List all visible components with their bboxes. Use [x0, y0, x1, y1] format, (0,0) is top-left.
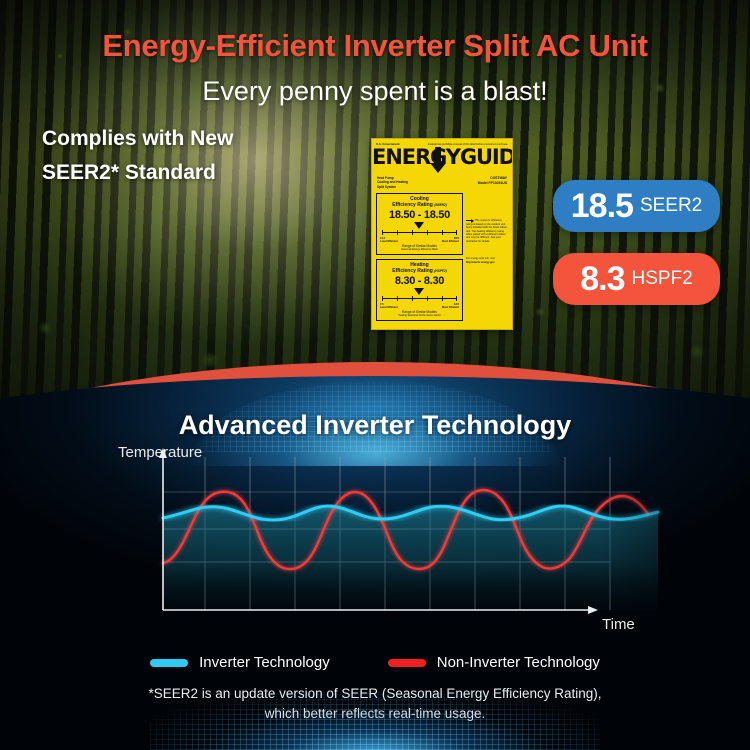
energyguide-side-note: This system's efficiency rating is based…: [466, 219, 508, 243]
cooling-scale-captions: Least Efficient Most Efficient: [380, 240, 459, 243]
heating-rating-unit: (HSPF2): [434, 269, 446, 273]
model-number: Model FP10234US: [478, 181, 507, 186]
cooling-rating-value: 18.50 - 18.50: [380, 209, 459, 222]
seer2-rating-badge: 18.5 SEER2: [553, 180, 720, 232]
cooling-rating-box: Cooling Efficiency Rating (SEER2) 18.50 …: [376, 193, 463, 255]
cooling-tick: [412, 230, 413, 235]
cooling-scale-line: [382, 232, 457, 233]
heating-scale-low-caption: Least Efficient: [380, 306, 398, 309]
energyguide-body: Cooling Efficiency Rating (SEER2) 18.50 …: [372, 189, 512, 325]
legend-swatch-inverter: [150, 659, 188, 667]
compliance-line-2: SEER2* Standard: [42, 156, 233, 190]
hspf2-unit-label: HSPF2: [632, 269, 693, 289]
cooling-range-caption: Range of Similar Models Seasonal Energy …: [380, 244, 459, 252]
heating-scale-line: [382, 298, 457, 299]
inverter-area-fill: [163, 506, 658, 610]
product-type-line-3: Split System: [377, 185, 408, 189]
cooling-tick: [442, 230, 443, 235]
compliance-text: Complies with New SEER2* Standard: [42, 122, 233, 190]
advanced-technology-section: Advanced Inverter Technology Temperature…: [0, 362, 750, 750]
y-axis-arrow-icon: [159, 448, 167, 458]
cooling-scale-low-caption: Least Efficient: [380, 240, 398, 243]
cooling-pointer-icon: [414, 222, 424, 229]
promo-page: Energy-Efficient Inverter Split AC Unit …: [0, 0, 750, 750]
visit-line-2: ftcproducts.energy.gov: [466, 261, 495, 264]
energyguide-side-column: This system's efficiency rating is based…: [466, 193, 508, 325]
energyguide-ratings-column: Cooling Efficiency Rating (SEER2) 18.50 …: [376, 193, 463, 325]
heating-scale-bar: [382, 296, 457, 303]
cooling-rating-unit: (SEER2): [434, 203, 447, 207]
heating-tick: [397, 296, 398, 301]
seer2-unit-label: SEER2: [640, 196, 702, 216]
heating-range-caption: Range of Similar Models Heating Seasonal…: [380, 310, 459, 318]
cooling-tick: [456, 230, 457, 235]
heating-rating-box: Heating Efficiency Rating (HSPF2) 8.30 -…: [376, 259, 463, 321]
floor-mesh-grid: [150, 692, 600, 750]
heating-tick: [456, 296, 457, 301]
right-arrow-icon: [466, 219, 474, 222]
heating-scale-high-caption: Most Efficient: [442, 306, 459, 309]
chart-legend: Inverter Technology Non-Inverter Technol…: [0, 654, 750, 671]
heating-range-line-2: Heating Seasonal Performance Factor: [380, 314, 459, 318]
hspf2-rating-badge: 8.3 HSPF2: [553, 253, 720, 305]
cooling-tick: [397, 230, 398, 235]
inverter-comparison-chart: Temperature Time: [0, 432, 750, 647]
cooling-tick: [382, 230, 383, 235]
side-note-text: This system's efficiency rating is based…: [466, 219, 507, 242]
page-title: Energy-Efficient Inverter Split AC Unit: [0, 28, 750, 64]
hero-subheadline: Every penny spent is a blast!: [0, 76, 750, 107]
heating-tick: [427, 296, 428, 301]
energyguide-product-type: Heat Pump Cooling and Heating Split Syst…: [377, 176, 408, 189]
energyguide-brand-block: COSTWAY Model FP10234US: [478, 176, 507, 189]
heating-tick: [412, 296, 413, 301]
legend-swatch-non-inverter: [388, 659, 426, 667]
hspf2-value: 8.3: [580, 262, 624, 296]
heating-tick: [442, 296, 443, 301]
cooling-rating-label-text: Efficiency Rating: [392, 202, 433, 208]
legend-item-non-inverter: Non-Inverter Technology: [388, 654, 600, 671]
compliance-line-1: Complies with New: [42, 122, 233, 156]
energyguide-label: U.S. Government Federal law prohibits re…: [371, 138, 513, 330]
heating-tick: [382, 296, 383, 301]
legend-item-inverter: Inverter Technology: [150, 654, 330, 671]
heating-pointer-icon: [414, 288, 424, 295]
heating-rating-label-text: Efficiency Rating: [392, 268, 433, 274]
seer2-value: 18.5: [571, 189, 633, 223]
heating-rating-value: 8.30 - 8.30: [380, 275, 459, 288]
cooling-scale-high-caption: Most Efficient: [442, 240, 459, 243]
heating-scale-captions: Least Efficient Most Efficient: [380, 306, 459, 309]
cooling-tick: [427, 230, 428, 235]
chart-svg: [0, 432, 750, 647]
legend-label-inverter: Inverter Technology: [199, 654, 330, 671]
cooling-scale-bar: [382, 230, 457, 237]
legend-label-non-inverter: Non-Inverter Technology: [437, 654, 600, 671]
cooling-range-line-2: Seasonal Energy Efficiency Ratio: [380, 248, 459, 252]
energyguide-visit-block: For energy cost info, visit ftcproducts.…: [466, 257, 508, 264]
